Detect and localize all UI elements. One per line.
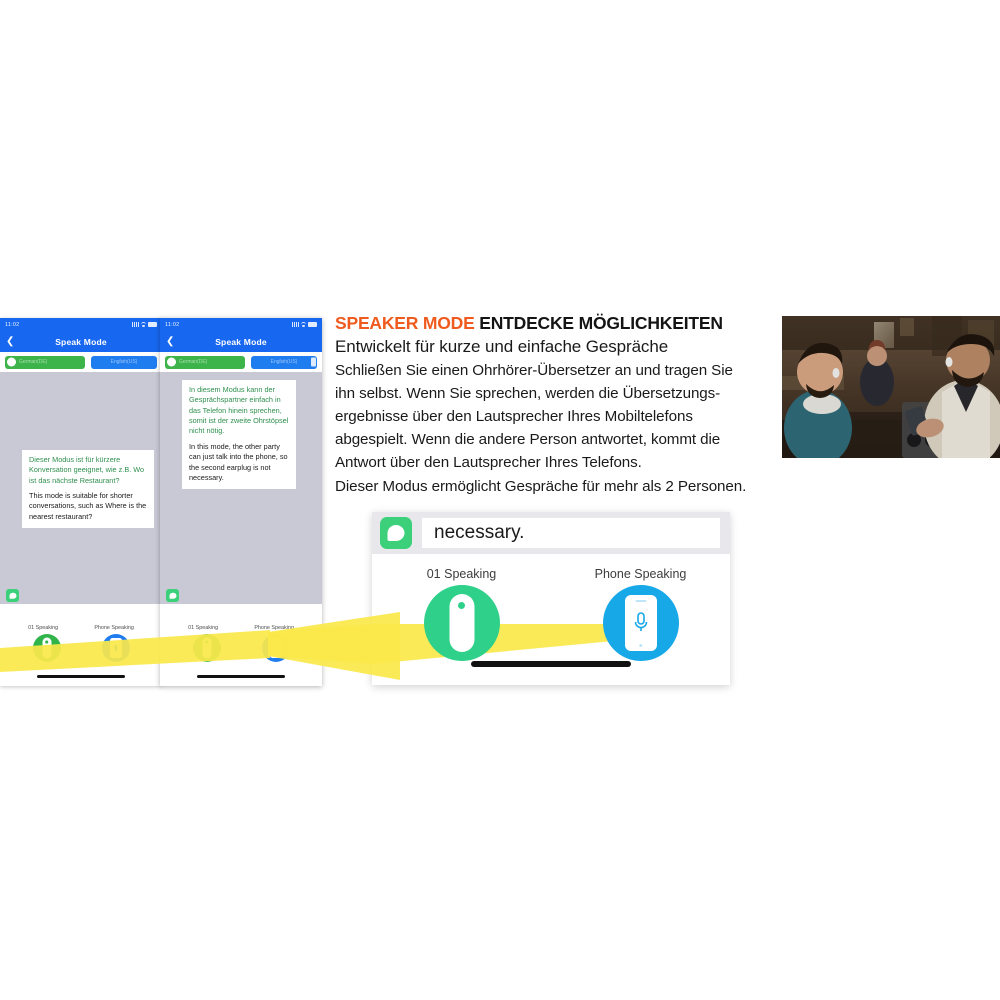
nav-bar: ❮ Speak Mode xyxy=(160,331,322,352)
status-bar: 11:02 xyxy=(0,318,162,331)
source-language-button[interactable]: German(DE) xyxy=(165,356,245,369)
speaking-labels: 01 Speaking Phone Speaking xyxy=(160,620,322,631)
paragraph-line: abgespielt. Wenn die andere Person antwo… xyxy=(335,428,777,451)
phone-microphone-icon[interactable] xyxy=(262,634,290,662)
speaking-labels: 01 Speaking Phone Speaking xyxy=(0,620,162,631)
status-time: 11:02 xyxy=(5,322,19,328)
phone-speaking-label: Phone Speaking xyxy=(254,625,294,631)
photo-illustration xyxy=(782,316,1000,458)
chevron-left-icon[interactable]: ❮ xyxy=(166,337,174,347)
phone-microphone-icon[interactable] xyxy=(102,634,130,662)
earbud-speaking-label: 01 Speaking xyxy=(372,567,551,581)
earbud-icon[interactable] xyxy=(193,634,221,662)
message-text-de: In diesem Modus kann der Gesprächspartne… xyxy=(189,385,290,437)
battery-icon xyxy=(308,322,317,327)
source-language-label: German(DE) xyxy=(19,359,47,365)
home-indicator xyxy=(471,661,631,667)
language-selector-bar: German(DE) English(US) xyxy=(0,352,162,372)
message-bubble: Dieser Modus ist für kürzere Konversatio… xyxy=(22,450,154,528)
chevron-down-icon[interactable] xyxy=(311,358,316,367)
chevron-left-icon[interactable]: ❮ xyxy=(6,337,14,347)
message-text-en: In this mode, the other party can just t… xyxy=(189,442,290,483)
zoomed-controls-panel: necessary. 01 Speaking Phone Speaking xyxy=(372,512,730,685)
mic-dot-icon xyxy=(167,358,176,367)
phone-speaking-label: Phone Speaking xyxy=(551,567,730,581)
status-bar: 11:02 xyxy=(160,318,322,331)
headline-rest: ENTDECKE MÖGLICHKEITEN xyxy=(479,313,723,333)
home-indicator xyxy=(37,675,125,678)
source-language-button[interactable]: German(DE) xyxy=(5,356,85,369)
target-language-button[interactable]: English(US) xyxy=(91,356,157,369)
lifestyle-photo xyxy=(782,316,1000,458)
message-bubble: In diesem Modus kann der Gesprächspartne… xyxy=(182,380,296,489)
earbud-speaking-label: 01 Speaking xyxy=(28,625,58,631)
status-indicators xyxy=(292,322,317,327)
paragraph-line: ihn selbst. Wenn Sie sprechen, werden di… xyxy=(335,382,777,405)
status-time: 11:02 xyxy=(165,322,179,328)
zoomed-speaking-controls: 01 Speaking Phone Speaking xyxy=(372,554,730,685)
source-language-label: German(DE) xyxy=(179,359,207,365)
target-language-label: English(US) xyxy=(271,359,298,365)
promo-text-block: SPEAKER MODE ENTDECKE MÖGLICHKEITEN Entw… xyxy=(335,313,777,498)
microphone-icon xyxy=(632,610,650,636)
chat-area: Dieser Modus ist für kürzere Konversatio… xyxy=(0,372,162,604)
phone-microphone-icon[interactable] xyxy=(603,585,679,661)
target-language-button[interactable]: English(US) xyxy=(251,356,317,369)
phone-screenshot-b: 11:02 ❮ Speak Mode German(DE) English(US… xyxy=(160,318,322,686)
language-selector-bar: German(DE) English(US) xyxy=(160,352,322,372)
zoomed-message-row: necessary. xyxy=(372,512,730,554)
zoomed-speaking-buttons xyxy=(372,585,730,661)
earbud-icon[interactable] xyxy=(33,634,61,662)
signal-bars-icon xyxy=(292,322,299,327)
chat-area: In diesem Modus kann der Gesprächspartne… xyxy=(160,372,322,604)
avatar xyxy=(166,589,179,602)
promo-headline: SPEAKER MODE ENTDECKE MÖGLICHKEITEN xyxy=(335,313,777,334)
paragraph-line: ergebnisse über den Lautsprecher Ihres M… xyxy=(335,405,777,428)
speaking-controls: 01 Speaking Phone Speaking xyxy=(0,620,162,686)
nav-bar: ❮ Speak Mode xyxy=(0,331,162,352)
signal-bars-icon xyxy=(132,322,139,327)
page-title: Speak Mode xyxy=(160,337,322,347)
promo-subhead: Entwickelt für kurze und einfache Gesprä… xyxy=(335,336,777,358)
home-indicator xyxy=(197,675,285,678)
headline-highlight: SPEAKER MODE xyxy=(335,313,475,333)
zoomed-message-text: necessary. xyxy=(422,518,720,548)
speaking-buttons xyxy=(0,631,162,662)
speaking-controls: 01 Speaking Phone Speaking xyxy=(160,620,322,686)
phone-speaking-label: Phone Speaking xyxy=(94,625,134,631)
paragraph-line: Schließen Sie einen Ohrhörer-Übersetzer … xyxy=(335,359,777,382)
message-text-en: This mode is suitable for shorter conver… xyxy=(29,491,148,522)
earbud-speaking-label: 01 Speaking xyxy=(188,625,218,631)
message-text-de: Dieser Modus ist für kürzere Konversatio… xyxy=(29,455,148,486)
paragraph-line: Antwort über den Lautsprecher Ihres Tele… xyxy=(335,451,777,474)
paragraph-line: Dieser Modus ermöglicht Gespräche für me… xyxy=(335,475,777,498)
promo-paragraph: Schließen Sie einen Ohrhörer-Übersetzer … xyxy=(335,359,777,498)
mic-dot-icon xyxy=(7,358,16,367)
earbud-icon[interactable] xyxy=(424,585,500,661)
wifi-icon xyxy=(301,322,306,327)
promo-sheet: 11:02 ❮ Speak Mode German(DE) English(US… xyxy=(0,0,1000,1000)
speaking-buttons xyxy=(160,631,322,662)
status-indicators xyxy=(132,322,157,327)
avatar xyxy=(6,589,19,602)
page-title: Speak Mode xyxy=(0,337,162,347)
phone-screenshot-a: 11:02 ❮ Speak Mode German(DE) English(US… xyxy=(0,318,162,686)
wifi-icon xyxy=(141,322,146,327)
chat-bubble-avatar-icon xyxy=(380,517,412,549)
zoomed-speaking-labels: 01 Speaking Phone Speaking xyxy=(372,554,730,581)
target-language-label: English(US) xyxy=(111,359,138,365)
battery-icon xyxy=(148,322,157,327)
